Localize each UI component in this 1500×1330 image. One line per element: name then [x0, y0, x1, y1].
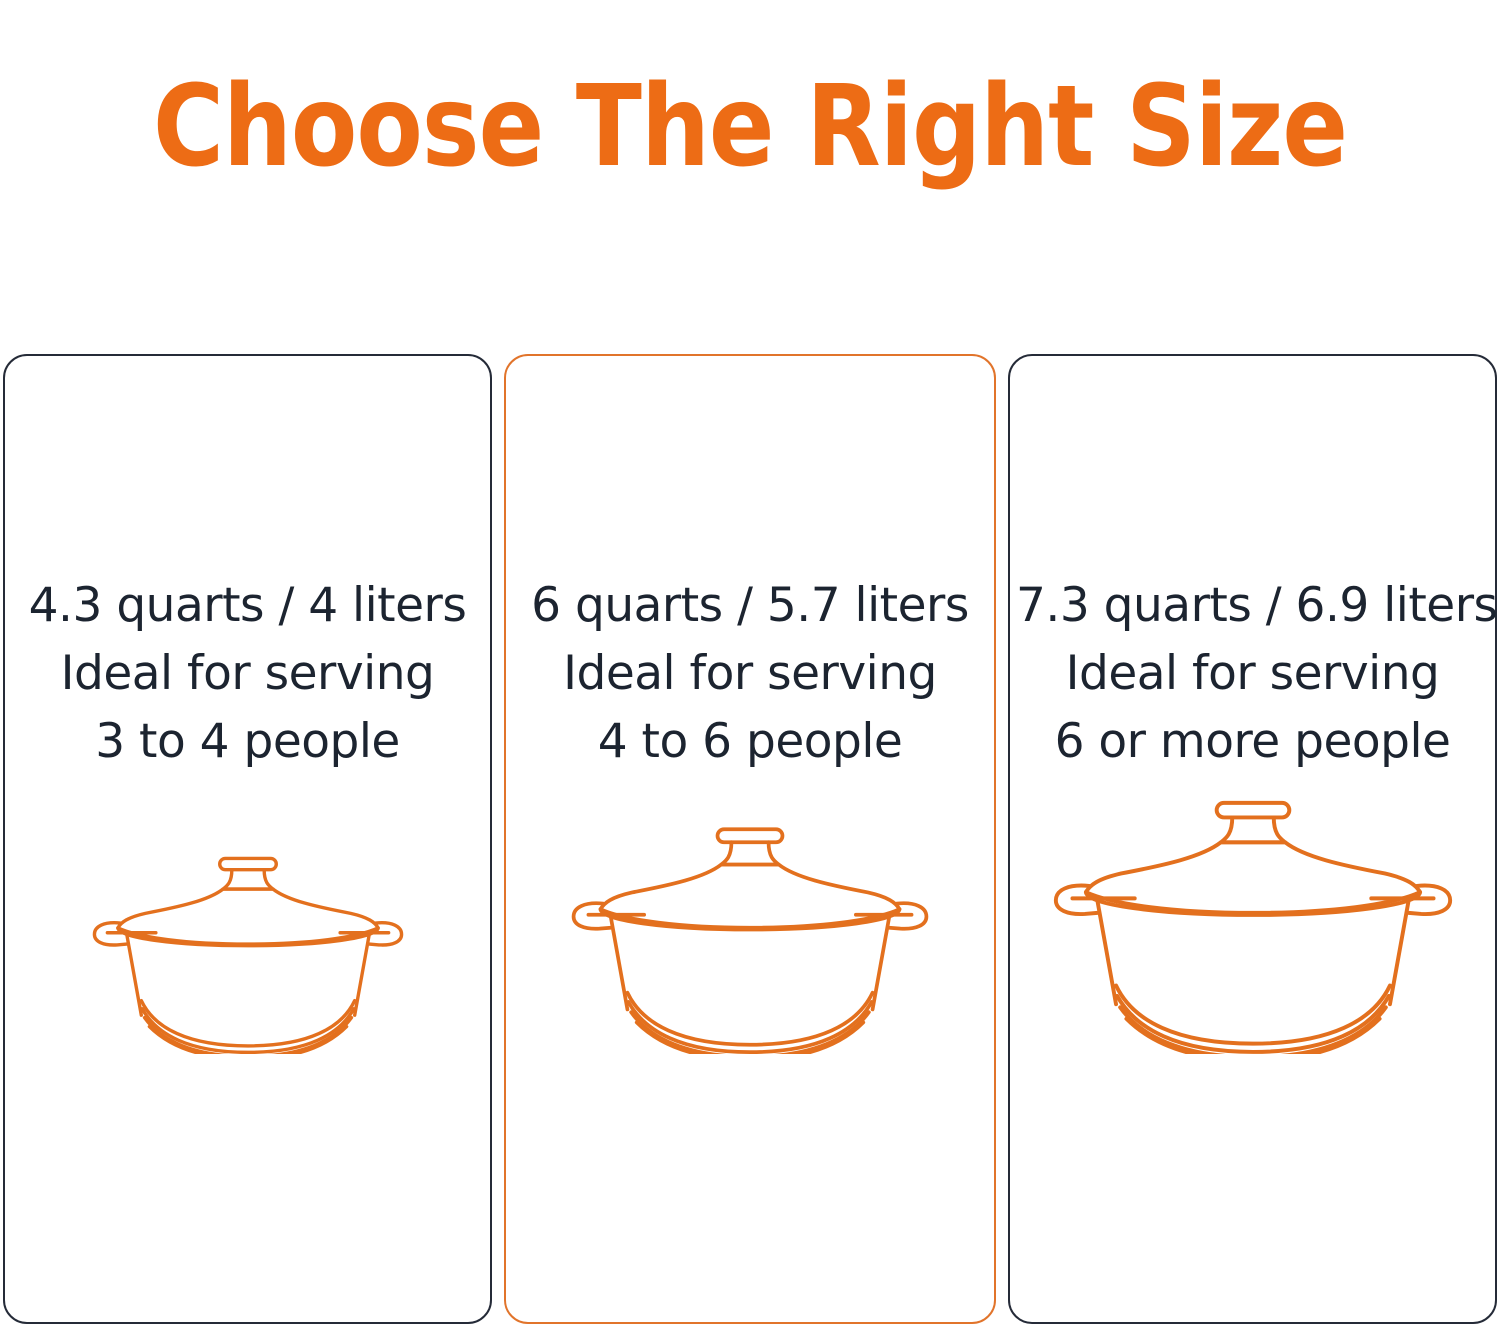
size-card-medium-text: 6 quarts / 5.7 liters Ideal for serving … — [506, 572, 994, 776]
dutch-oven-pot-icon — [1035, 778, 1471, 1054]
size-card-row: 4.3 quarts / 4 liters Ideal for serving … — [3, 354, 1497, 1324]
size-card-small-text: 4.3 quarts / 4 liters Ideal for serving … — [5, 572, 490, 776]
serving-count-label: 6 or more people — [1016, 708, 1489, 776]
dutch-oven-pot-icon — [555, 807, 945, 1054]
capacity-label: 6 quarts / 5.7 liters — [512, 572, 988, 640]
serving-count-label: 3 to 4 people — [11, 708, 484, 776]
pot-illustration-wrap-small — [5, 839, 490, 1054]
size-card-large[interactable]: 7.3 quarts / 6.9 liters Ideal for servin… — [1008, 354, 1497, 1324]
size-card-large-text: 7.3 quarts / 6.9 liters Ideal for servin… — [1010, 572, 1495, 776]
pot-illustration-wrap-medium — [506, 807, 994, 1054]
serving-prefix-label: Ideal for serving — [512, 640, 988, 708]
serving-count-label: 4 to 6 people — [512, 708, 988, 776]
pot-illustration-wrap-large — [1010, 778, 1495, 1054]
size-guide-page: Choose The Right Size 4.3 quarts / 4 lit… — [0, 0, 1500, 1330]
page-title: Choose The Right Size — [30, 69, 1470, 185]
capacity-label: 7.3 quarts / 6.9 liters — [1016, 572, 1489, 640]
size-card-medium[interactable]: 6 quarts / 5.7 liters Ideal for serving … — [504, 354, 996, 1324]
serving-prefix-label: Ideal for serving — [1016, 640, 1489, 708]
capacity-label: 4.3 quarts / 4 liters — [11, 572, 484, 640]
dutch-oven-pot-icon — [78, 839, 418, 1054]
serving-prefix-label: Ideal for serving — [11, 640, 484, 708]
size-card-small[interactable]: 4.3 quarts / 4 liters Ideal for serving … — [3, 354, 492, 1324]
